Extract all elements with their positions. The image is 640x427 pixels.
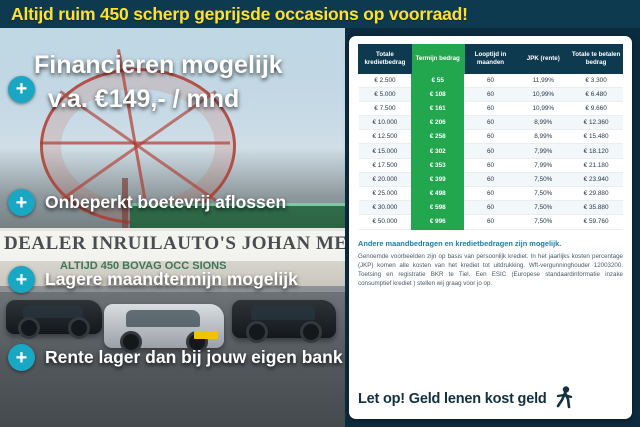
table-cell: € 59.760 xyxy=(570,215,623,229)
plus-icon: + xyxy=(8,344,35,371)
table-cell: 7,50% xyxy=(517,187,570,201)
promo-headline: Financieren mogelijk xyxy=(34,52,334,78)
table-row: € 7.500€ 1616010,99%€ 9.660 xyxy=(359,101,623,115)
col-header-total-credit: Totale kredietbedrag xyxy=(359,45,412,74)
table-cell: 7,99% xyxy=(517,144,570,158)
table-cell: € 21.180 xyxy=(570,158,623,172)
table-cell: € 598 xyxy=(411,201,464,215)
table-cell: 8,99% xyxy=(517,130,570,144)
table-cell: € 7.500 xyxy=(359,101,412,115)
table-cell: € 5.000 xyxy=(359,87,412,101)
table-cell: € 17.500 xyxy=(359,158,412,172)
table-cell: € 6.480 xyxy=(570,87,623,101)
table-cell: 7,99% xyxy=(517,158,570,172)
walking-person-icon xyxy=(553,386,575,412)
table-cell: 60 xyxy=(464,172,517,186)
table-cell: 7,50% xyxy=(517,215,570,229)
table-header-row: Totale kredietbedrag Termijn bedrag Loop… xyxy=(359,45,623,74)
plus-icon: + xyxy=(8,266,35,293)
table-cell: 60 xyxy=(464,187,517,201)
table-cell: 7,50% xyxy=(517,201,570,215)
table-row: € 17.500€ 353607,99%€ 21.180 xyxy=(359,158,623,172)
rates-card: Totale kredietbedrag Termijn bedrag Loop… xyxy=(349,36,632,419)
col-header-monthly-amount: Termijn bedrag xyxy=(411,45,464,74)
table-cell: € 9.660 xyxy=(570,101,623,115)
warning-text: Let op! Geld lenen kost geld xyxy=(358,391,547,407)
table-row: € 5.000€ 1086010,99%€ 6.480 xyxy=(359,87,623,101)
table-cell: € 15.480 xyxy=(570,130,623,144)
table-cell: 11,99% xyxy=(517,73,570,87)
table-cell: 10,99% xyxy=(517,87,570,101)
promo-bullet-label: Rente lager dan bij jouw eigen bank xyxy=(45,347,343,368)
table-cell: € 353 xyxy=(411,158,464,172)
table-row: € 2.500€ 556011,99%€ 3.300 xyxy=(359,73,623,87)
table-cell: € 35.880 xyxy=(570,201,623,215)
table-cell: € 18.120 xyxy=(570,144,623,158)
table-cell: € 3.300 xyxy=(570,73,623,87)
table-cell: 7,50% xyxy=(517,172,570,186)
table-cell: € 15.000 xyxy=(359,144,412,158)
table-cell: € 161 xyxy=(411,101,464,115)
table-cell: € 108 xyxy=(411,87,464,101)
table-row: € 30.000€ 598607,50%€ 35.880 xyxy=(359,201,623,215)
table-cell: 60 xyxy=(464,101,517,115)
table-cell: 60 xyxy=(464,73,517,87)
table-cell: € 55 xyxy=(411,73,464,87)
table-cell: € 498 xyxy=(411,187,464,201)
table-cell: € 996 xyxy=(411,215,464,229)
table-cell: € 2.500 xyxy=(359,73,412,87)
note-body: Genoemde voorbeelden zijn op basis van p… xyxy=(358,253,623,289)
col-header-total-payable: Totale te betalen bedrag xyxy=(570,45,623,74)
top-headline-text: Altijd ruim 450 scherp geprijsde occasio… xyxy=(11,4,468,25)
table-cell: 60 xyxy=(464,116,517,130)
table-cell: € 12.500 xyxy=(359,130,412,144)
top-headline-bar: Altijd ruim 450 scherp geprijsde occasio… xyxy=(0,0,640,28)
table-cell: € 50.000 xyxy=(359,215,412,229)
note-title: Andere maandbedragen en kredietbedragen … xyxy=(358,239,623,249)
table-row: € 25.000€ 498607,50%€ 29.880 xyxy=(359,187,623,201)
table-cell: € 10.000 xyxy=(359,116,412,130)
ad-banner: DEALER INRUILAUTO'S JOHAN MEURE ALTIJD 4… xyxy=(0,0,640,427)
table-cell: 60 xyxy=(464,201,517,215)
table-cell: 60 xyxy=(464,215,517,229)
table-cell: 60 xyxy=(464,130,517,144)
table-cell: € 206 xyxy=(411,116,464,130)
table-row: € 50.000€ 996607,50%€ 59.760 xyxy=(359,215,623,229)
table-cell: 60 xyxy=(464,144,517,158)
plus-icon: + xyxy=(8,189,35,216)
promo-bullet-label: Lagere maandtermijn mogelijk xyxy=(45,269,298,290)
promo-bullet-2: + Lagere maandtermijn mogelijk xyxy=(8,266,298,293)
table-row: € 15.000€ 302607,99%€ 18.120 xyxy=(359,144,623,158)
table-cell: € 302 xyxy=(411,144,464,158)
warning-strip: Let op! Geld lenen kost geld xyxy=(358,386,623,412)
promo-bullet-1: + Onbeperkt boetevrij aflossen xyxy=(8,189,286,216)
table-cell: 60 xyxy=(464,87,517,101)
table-cell: € 25.000 xyxy=(359,187,412,201)
promo-bullet-label: Onbeperkt boetevrij aflossen xyxy=(45,192,286,213)
promo-column: + Financieren mogelijk v.a. €149,- / mnd… xyxy=(0,34,345,424)
table-cell: 8,99% xyxy=(517,116,570,130)
promo-bullet-3: + Rente lager dan bij jouw eigen bank xyxy=(8,344,343,371)
table-cell: € 23.940 xyxy=(570,172,623,186)
table-cell: € 29.880 xyxy=(570,187,623,201)
promo-subheadline: v.a. €149,- / mnd xyxy=(48,86,348,112)
table-cell: € 30.000 xyxy=(359,201,412,215)
table-row: € 10.000€ 206608,99%€ 12.360 xyxy=(359,116,623,130)
table-cell: € 399 xyxy=(411,172,464,186)
table-cell: € 258 xyxy=(411,130,464,144)
col-header-apr: JPK (rente) xyxy=(517,45,570,74)
table-row: € 20.000€ 399607,50%€ 23.940 xyxy=(359,172,623,186)
col-header-duration: Looptijd in maanden xyxy=(464,45,517,74)
plus-icon: + xyxy=(8,76,35,103)
table-row: € 12.500€ 258608,99%€ 15.480 xyxy=(359,130,623,144)
table-cell: 60 xyxy=(464,158,517,172)
table-cell: € 20.000 xyxy=(359,172,412,186)
rates-table: Totale kredietbedrag Termijn bedrag Loop… xyxy=(358,44,623,230)
table-cell: € 12.360 xyxy=(570,116,623,130)
table-cell: 10,99% xyxy=(517,101,570,115)
